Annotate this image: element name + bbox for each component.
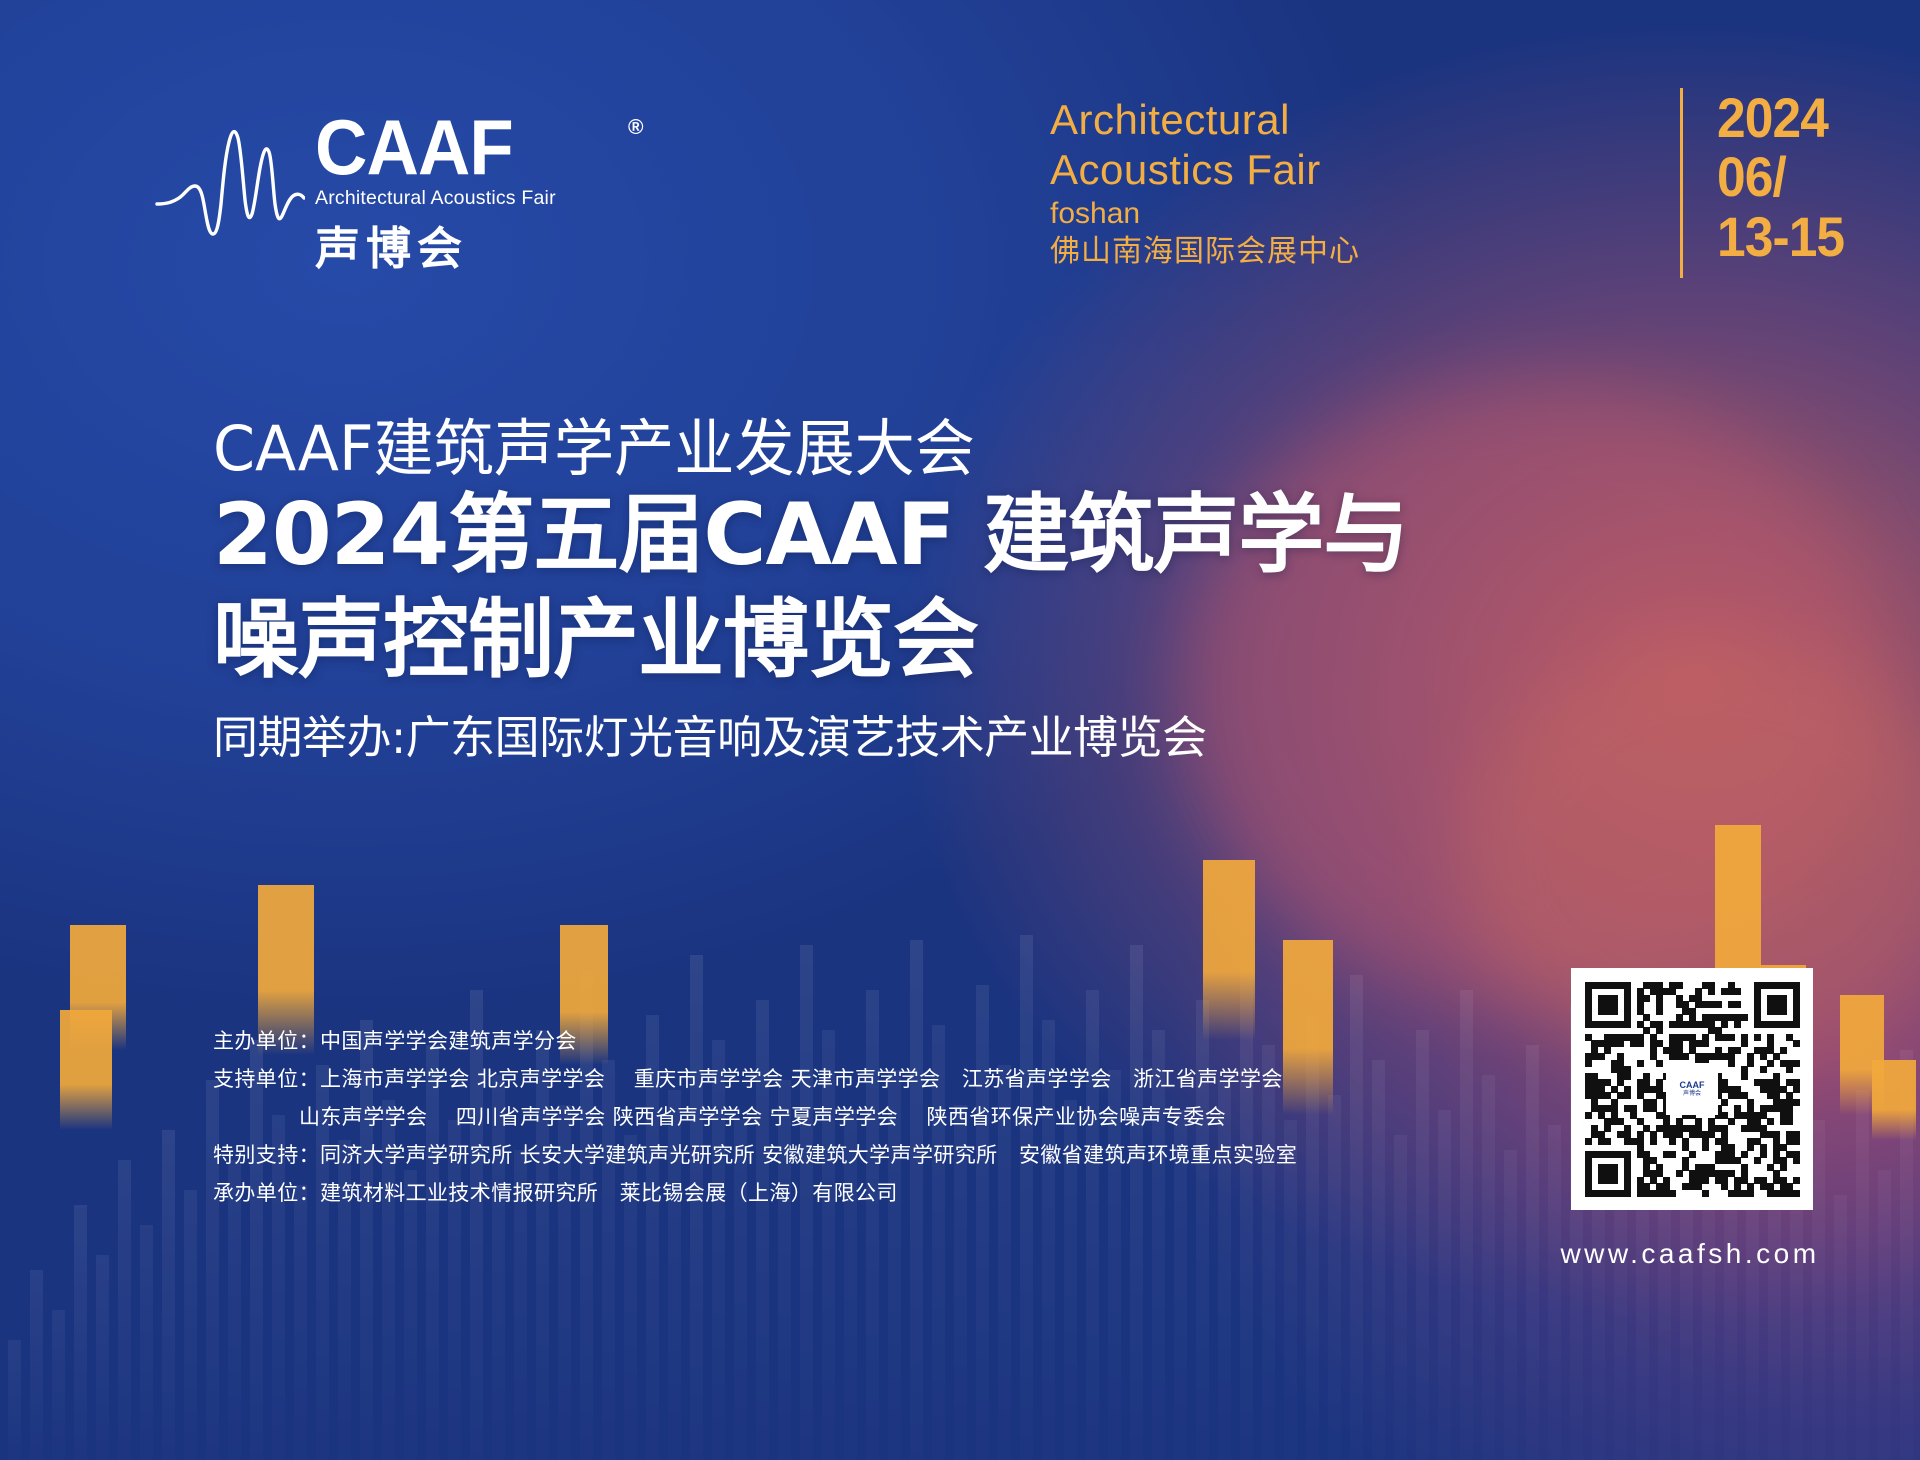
qr-module	[1585, 1112, 1592, 1119]
caaf-logo-text: CAAF ® Architectural Acoustics Fair 声博会	[315, 110, 556, 277]
qr-module	[1624, 1190, 1631, 1197]
equalizer-bar	[1724, 1180, 1737, 1460]
equalizer-bar	[140, 1225, 153, 1460]
credit-value: 建筑材料工业技术情报研究所 莱比锡会展（上海）有限公司	[320, 1181, 898, 1205]
qr-module	[1793, 1060, 1800, 1067]
qr-module	[1702, 1040, 1709, 1047]
equalizer-bar	[74, 1205, 87, 1460]
qr-module	[1741, 1040, 1748, 1047]
equalizer-bar	[162, 1130, 175, 1460]
equalizer-bar	[1394, 1135, 1407, 1460]
qr-module	[1734, 1021, 1741, 1028]
qr-module	[1624, 1021, 1631, 1028]
poster-header: CAAF ® Architectural Acoustics Fair 声博会 …	[0, 0, 1920, 310]
caaf-logo-subtitle-cn: 声博会	[315, 212, 556, 277]
event-days: 13-15	[1717, 207, 1844, 266]
equalizer-bar	[30, 1270, 43, 1460]
accent-bar	[60, 1010, 112, 1130]
qr-module	[1780, 1008, 1787, 1015]
equalizer-bar	[1526, 1045, 1539, 1460]
qr-module	[1702, 1144, 1709, 1151]
qr-module	[1643, 995, 1650, 1002]
credit-label: 特别支持：	[213, 1143, 320, 1167]
qr-module	[1793, 1021, 1800, 1028]
qr-module	[1656, 1060, 1663, 1067]
event-year: 2024	[1717, 88, 1844, 147]
qr-module	[1747, 1060, 1754, 1067]
qr-module	[1624, 1092, 1631, 1099]
qr-module	[1734, 1047, 1741, 1054]
credit-value: 中国声学学会建筑声学分会	[320, 1029, 577, 1053]
qr-module	[1734, 1001, 1741, 1008]
equalizer-bar	[52, 1310, 65, 1460]
qr-module	[1702, 1177, 1709, 1184]
qr-module	[1669, 1151, 1676, 1158]
equalizer-bar	[1504, 1150, 1517, 1460]
caaf-wordmark: CAAF	[315, 110, 539, 184]
qr-module	[1656, 1027, 1663, 1034]
qr-module	[1793, 1040, 1800, 1047]
credit-label: 承办单位：	[213, 1181, 320, 1205]
qr-module	[1611, 1008, 1618, 1015]
equalizer-bar	[1416, 1030, 1429, 1460]
equalizer-bar	[118, 1160, 131, 1460]
qr-module	[1786, 1066, 1793, 1073]
qr-module	[1793, 1177, 1800, 1184]
qr-module	[1793, 1138, 1800, 1145]
qr-module	[1617, 1040, 1624, 1047]
qr-module	[1669, 1138, 1676, 1145]
qr-module	[1728, 1034, 1735, 1041]
qr-module	[1598, 1053, 1605, 1060]
qr-module	[1702, 1190, 1709, 1197]
qr-module	[1741, 1014, 1748, 1021]
credit-row: 特别支持：同济大学声学研究所 长安大学建筑声光研究所 安徽建筑大学声学研究所 安…	[213, 1136, 1297, 1174]
qr-module	[1624, 1073, 1631, 1080]
qr-module	[1676, 982, 1683, 989]
equalizer-bar	[1328, 1095, 1341, 1460]
venue-name-cn: 佛山南海国际会展中心	[1050, 233, 1360, 271]
equalizer-bar	[1482, 1075, 1495, 1460]
qr-module	[1708, 988, 1715, 995]
qr-module	[1793, 1157, 1800, 1164]
fair-name-line1: Architectural	[1050, 95, 1360, 145]
equalizer-bar	[1548, 1125, 1561, 1460]
equalizer-bar	[1438, 1110, 1451, 1460]
equalizer-bar	[1834, 1195, 1847, 1460]
equalizer-bar	[1812, 1120, 1825, 1460]
credit-value: 山东声学学会 四川省声学学会 陕西省声学学会 宁夏声学学会 陕西省环保产业协会噪…	[299, 1105, 1226, 1129]
qr-module	[1585, 1060, 1592, 1067]
credit-row: 承办单位：建筑材料工业技术情报研究所 莱比锡会展（上海）有限公司	[213, 1174, 1297, 1212]
qr-module	[1741, 1073, 1748, 1080]
qr-module	[1682, 1053, 1689, 1060]
organizer-credits: 主办单位：中国声学学会建筑声学分会支持单位：上海市声学学会 北京声学学会 重庆市…	[213, 1022, 1297, 1212]
accent-bar	[1203, 860, 1255, 1040]
city-name-en: foshan	[1050, 196, 1360, 232]
qr-module	[1793, 1190, 1800, 1197]
qr-module	[1734, 988, 1741, 995]
qr-module	[1754, 1157, 1761, 1164]
qr-module	[1747, 1190, 1754, 1197]
registered-trademark-icon: ®	[628, 116, 643, 140]
qr-code-center-logo: CAAF 声博会	[1666, 1063, 1718, 1115]
equalizer-bar	[184, 1190, 197, 1460]
qr-module	[1741, 1151, 1748, 1158]
qr-module	[1728, 1118, 1735, 1125]
page-subtitle: 同期举办:广东国际灯光音响及演艺技术产业博览会	[213, 711, 1408, 765]
fair-name-block: Architectural Acoustics Fair foshan 佛山南海…	[1050, 95, 1360, 271]
qr-module	[1793, 1099, 1800, 1106]
credit-label: 支持单位：	[213, 1067, 320, 1091]
qr-module	[1604, 1138, 1611, 1145]
event-date-block: 2024 06/ 13-15	[1680, 88, 1855, 278]
page-title-line2: 噪声控制产业博览会	[213, 588, 1408, 693]
qr-module	[1689, 1151, 1696, 1158]
qr-module	[1780, 1047, 1787, 1054]
credit-row: 主办单位：中国声学学会建筑声学分会	[213, 1022, 1297, 1060]
credit-row: 山东声学学会 四川省声学学会 陕西省声学学会 宁夏声学学会 陕西省环保产业协会噪…	[213, 1098, 1297, 1136]
equalizer-bar	[1350, 975, 1363, 1460]
qr-module	[1604, 1125, 1611, 1132]
caaf-logo: CAAF ® Architectural Acoustics Fair 声博会	[155, 110, 556, 277]
qr-module	[1747, 1144, 1754, 1151]
equalizer-bar	[96, 1255, 109, 1460]
qr-module	[1793, 1086, 1800, 1093]
qr-module	[1650, 1138, 1657, 1145]
qr-module	[1786, 1118, 1793, 1125]
qr-module	[1760, 1066, 1767, 1073]
poster-root: CAAF ® Architectural Acoustics Fair 声博会 …	[0, 0, 1920, 1460]
page-eyebrow: CAAF建筑声学产业发展大会	[213, 415, 1372, 483]
qr-code[interactable]: CAAF 声博会	[1571, 968, 1813, 1210]
equalizer-bar	[1856, 1090, 1869, 1460]
equalizer-bar	[1460, 990, 1473, 1460]
qr-module	[1604, 1047, 1611, 1054]
qr-module	[1721, 1021, 1728, 1028]
qr-logo-cn: 声博会	[1683, 1090, 1701, 1097]
page-title-line1: 2024第五届CAAF 建筑声学与	[213, 483, 1408, 588]
credit-row: 支持单位：上海市声学学会 北京声学学会 重庆市声学学会 天津市声学学会 江苏省声…	[213, 1060, 1297, 1098]
qr-module	[1754, 1034, 1761, 1041]
qr-module	[1760, 1151, 1767, 1158]
qr-module	[1721, 1099, 1728, 1106]
fair-name-line2: Acoustics Fair	[1050, 145, 1360, 195]
poster-title-block: CAAF建筑声学产业发展大会 2024第五届CAAF 建筑声学与 噪声控制产业博…	[213, 415, 1408, 765]
qr-module	[1676, 1170, 1683, 1177]
qr-module	[1585, 1138, 1592, 1145]
qr-module	[1656, 1008, 1663, 1015]
equalizer-bar	[8, 1340, 21, 1460]
credit-value: 同济大学声学研究所 长安大学建筑声光研究所 安徽建筑大学声学研究所 安徽省建筑声…	[320, 1143, 1297, 1167]
qr-module	[1780, 1164, 1787, 1171]
qr-logo-word: CAAF	[1680, 1081, 1705, 1090]
qr-module	[1767, 1118, 1774, 1125]
equalizer-bar	[1372, 1060, 1385, 1460]
qr-module	[1611, 1177, 1618, 1184]
waveform-icon	[155, 118, 305, 268]
qr-module	[1669, 1190, 1676, 1197]
event-month: 06/	[1717, 147, 1844, 206]
credit-label: 主办单位：	[213, 1029, 320, 1053]
qr-module	[1715, 1001, 1722, 1008]
qr-module	[1767, 1060, 1774, 1067]
equalizer-bar	[404, 1170, 417, 1460]
accent-bar	[1872, 1060, 1916, 1140]
equalizer-bar	[294, 1185, 307, 1460]
qr-module	[1637, 1040, 1644, 1047]
equalizer-bar	[1878, 1170, 1891, 1460]
qr-module	[1637, 1060, 1644, 1067]
website-url[interactable]: www.caafsh.com	[1540, 1238, 1840, 1270]
credit-value: 上海市声学学会 北京声学学会 重庆市声学学会 天津市声学学会 江苏省声学学会 浙…	[320, 1067, 1283, 1091]
qr-module	[1728, 1060, 1735, 1067]
